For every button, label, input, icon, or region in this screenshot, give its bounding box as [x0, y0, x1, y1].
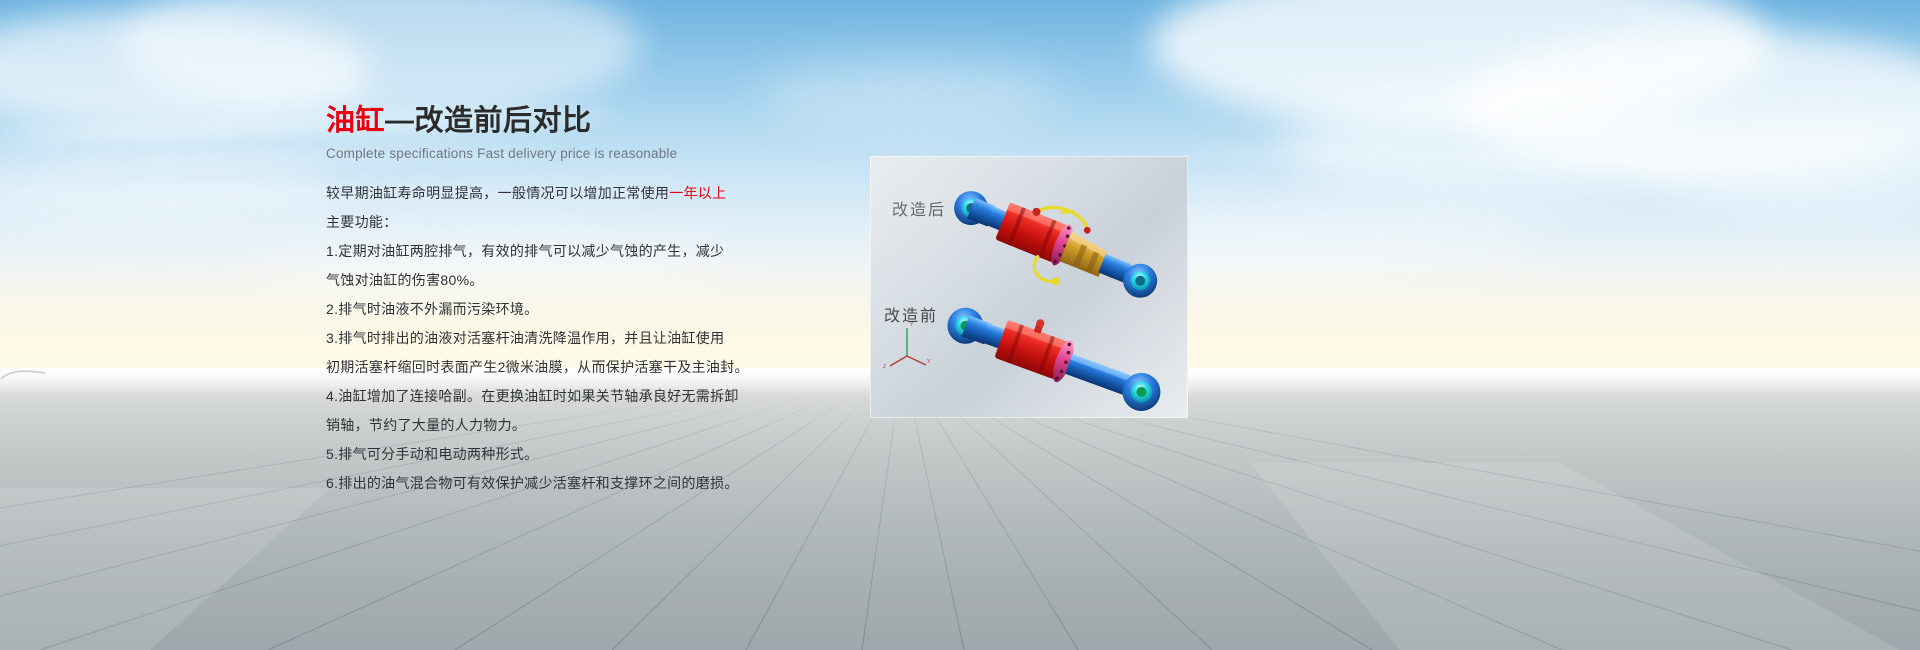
- intro-line: 较早期油缸寿命明显提高，一般情况可以增加正常使用一年以上: [326, 183, 746, 204]
- page-title-accent: 油缸: [326, 105, 385, 137]
- feature-line: 1.定期对油缸两腔排气，有效的排气可以减少气蚀的产生，减少: [326, 241, 746, 262]
- intro-highlight: 一年以上: [669, 185, 726, 201]
- banner-stage: 油缸—改造前后对比 Complete specifications Fast d…: [0, 0, 1920, 650]
- page-subtitle: Complete specifications Fast delivery pr…: [326, 146, 746, 161]
- feature-list: 较早期油缸寿命明显提高，一般情况可以增加正常使用一年以上 主要功能： 1.定期对…: [326, 183, 746, 494]
- cloud-shape: [1280, 90, 1700, 200]
- features-title: 主要功能：: [326, 212, 746, 233]
- feature-line: 销轴，节约了大量的人力物力。: [326, 415, 746, 436]
- feature-line: 4.油缸增加了连接哈副。在更换油缸时如果关节轴承良好无需拆卸: [326, 386, 746, 407]
- cloud-shape: [760, 60, 1060, 130]
- feature-line: 气蚀对油缸的伤害80%。: [326, 270, 746, 291]
- feature-line: 3.排气时排出的油液对活塞杆油清洗降温作用，并且让油缸使用: [326, 328, 746, 349]
- svg-text:Z: Z: [883, 364, 886, 370]
- page-title: 油缸—改造前后对比: [326, 105, 746, 138]
- plaza-scuff-mark: [0, 368, 46, 382]
- feature-line: 6.排出的油气混合物可有效保护减少活塞杆和支撑环之间的磨损。: [326, 473, 746, 494]
- comparison-diagram-panel: 改造后 改造前: [870, 156, 1188, 418]
- feature-line: 5.排气可分手动和电动两种形式。: [326, 444, 746, 465]
- hydraulic-cylinder-illustration: Y X Z: [870, 156, 1188, 418]
- feature-line: 初期活塞杆缩回时表面产生2微米油膜，从而保护活塞干及主油封。: [326, 357, 746, 378]
- feature-line: 2.排气时油液不外漏而污染环境。: [326, 299, 746, 320]
- intro-text: 较早期油缸寿命明显提高，一般情况可以增加正常使用: [326, 185, 669, 201]
- page-title-rest: —改造前后对比: [385, 105, 592, 137]
- banner-copy: 油缸—改造前后对比 Complete specifications Fast d…: [326, 105, 746, 502]
